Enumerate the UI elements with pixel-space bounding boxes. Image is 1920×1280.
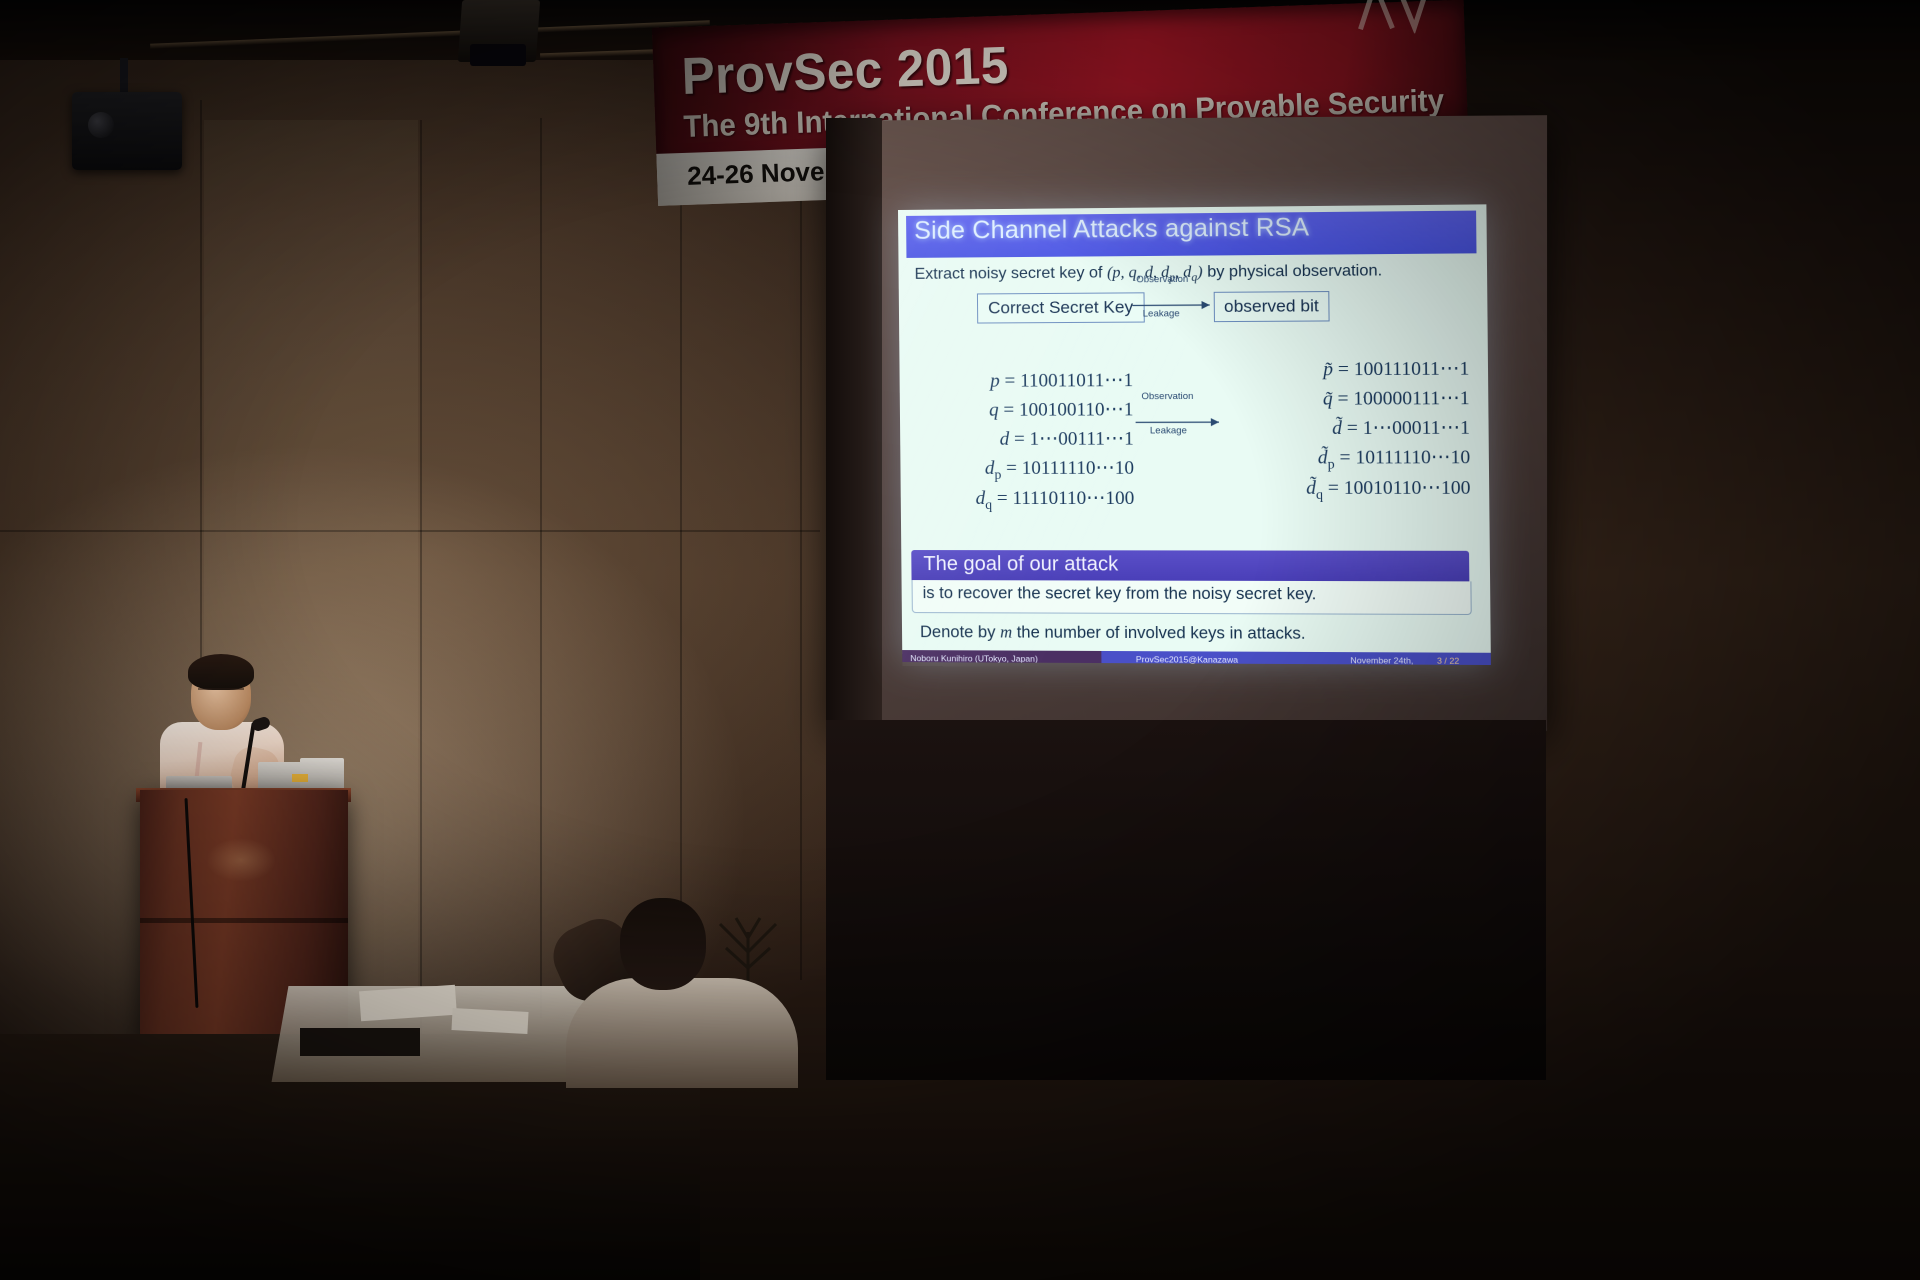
wall-seam [540, 118, 542, 1018]
key-subscript: q [985, 497, 992, 512]
key-value: 100111011⋯1 [1354, 358, 1470, 380]
screen-left-shadow [826, 118, 882, 728]
key-value: 10111110⋯10 [1022, 457, 1135, 478]
key-symbol: p [990, 371, 1000, 392]
slide-title: Side Channel Attacks against RSA [914, 213, 1309, 246]
presentation-slide: Side Channel Attacks against RSA Extract… [898, 204, 1491, 665]
wall-seam [800, 140, 802, 980]
key-symbol: d [1000, 428, 1010, 449]
key-value: 1⋯00111⋯1 [1029, 428, 1133, 449]
key-symbol: d̃ [1306, 478, 1316, 499]
key-row-dp: dp = 10111110⋯10 [942, 454, 1134, 485]
denote-prefix: Denote by [920, 623, 1000, 641]
goal-heading: The goal of our attack [923, 553, 1118, 576]
denote-symbol: m [1000, 622, 1012, 641]
key-value: 1⋯00011⋯1 [1363, 417, 1470, 439]
noisy-row-p: p̃ = 100111011⋯1 [1233, 355, 1470, 385]
attendee-head [620, 898, 706, 990]
denote-line: Denote by m the number of involved keys … [920, 622, 1306, 644]
observed-bit-box: observed bit [1214, 291, 1330, 322]
podium-trim [140, 918, 348, 923]
key-symbol: d [985, 457, 995, 478]
attendee-torso [566, 978, 798, 1088]
key-value: 10010110⋯100 [1344, 478, 1471, 499]
key-value: 110011011⋯1 [1020, 370, 1133, 392]
goal-heading-bar: The goal of our attack [911, 550, 1469, 581]
projector-mount [120, 58, 128, 96]
arrow2-top-label: Observation [1141, 391, 1193, 402]
noisy-row-dq: d̃q = 10010110⋯100 [1234, 475, 1471, 506]
key-symbol: p̃ [1323, 359, 1333, 380]
arrow1-bottom-label: Leakage [1143, 308, 1180, 319]
equipment-led-indicator [292, 774, 308, 782]
speaker-glasses-icon [198, 688, 244, 699]
key-row-dq: dq = 11110110⋯100 [943, 485, 1135, 516]
correct-key-list: p = 110011011⋯1 q = 100100110⋯1 d = 1⋯00… [942, 367, 1135, 516]
intro-prefix: Extract noisy secret key of [915, 264, 1108, 283]
footer-event: ProvSec2015@Kanazawa [1101, 651, 1327, 665]
banner-logo-icon [1351, 0, 1439, 36]
wall-seam [680, 120, 682, 1000]
dark-object-on-table [300, 1028, 420, 1056]
intro-suffix: by physical observation. [1203, 262, 1383, 281]
stage-wall-below-screen [826, 720, 1546, 1080]
arrow2-bottom-label: Leakage [1150, 425, 1187, 436]
key-symbol: d [976, 488, 986, 509]
key-subscript: q [1316, 487, 1323, 502]
noisy-row-q: q̃ = 100000111⋯1 [1233, 385, 1470, 415]
key-row-p: p = 110011011⋯1 [942, 367, 1134, 397]
key-row-d: d = 1⋯00111⋯1 [942, 425, 1134, 454]
key-value: 11110110⋯100 [1012, 488, 1134, 509]
key-value: 100100110⋯1 [1019, 399, 1134, 420]
correct-secret-key-box: Correct Secret Key [977, 292, 1144, 323]
key-value: 100000111⋯1 [1353, 388, 1469, 410]
projector-lens-icon [88, 112, 114, 138]
banner-title: ProvSec 2015 [681, 36, 1010, 107]
key-symbol: q̃ [1323, 388, 1333, 409]
noisy-row-d: d̃ = 1⋯00011⋯1 [1233, 414, 1470, 444]
key-symbol: d̃ [1318, 447, 1328, 468]
noisy-key-list: p̃ = 100111011⋯1 q̃ = 100000111⋯1 d̃ = 1… [1233, 355, 1471, 506]
key-symbol: d̃ [1332, 417, 1342, 438]
noisy-row-dp: d̃p = 10111110⋯10 [1234, 443, 1471, 474]
key-value: 10111110⋯10 [1355, 447, 1470, 469]
arrow1-top-label: Observation [1136, 274, 1188, 285]
footer-page-number: 3 / 22 [1431, 653, 1491, 666]
wall-seam [420, 120, 422, 1040]
footer-date: November 24th, 2015 [1328, 652, 1431, 665]
denote-suffix: the number of involved keys in attacks. [1012, 623, 1306, 642]
key-row-q: q = 100100110⋯1 [942, 396, 1134, 426]
key-subscript: p [1328, 456, 1335, 471]
conference-photo-scene: ProvSec 2015 The 9th International Confe… [0, 0, 1920, 1280]
key-subscript: p [994, 466, 1001, 481]
lighting-rig-lamp [470, 44, 526, 66]
podium-emblem-icon [206, 838, 276, 882]
paper-sheet [451, 1008, 528, 1034]
goal-body-box: is to recover the secret key from the no… [912, 580, 1472, 615]
speaker-hair [188, 654, 254, 690]
key-symbol: q [989, 400, 999, 421]
goal-body-text: is to recover the secret key from the no… [923, 584, 1317, 604]
